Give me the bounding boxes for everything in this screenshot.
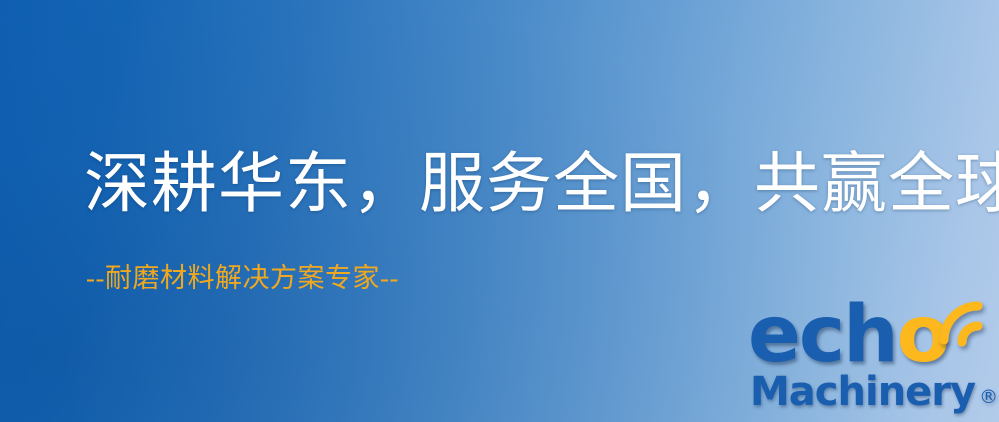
logo-wordmark: ech o [748,296,948,374]
banner-subtitle: --耐磨材料解决方案专家-- [86,265,399,292]
banner-headline: 深耕华东，服务全国，共赢全球 [84,152,999,218]
signal-arcs-icon [938,290,999,350]
logo-text-machinery: Machinery [750,372,975,412]
logo-text-ech: ech [748,296,897,374]
logo-subtext: Machinery ® [750,372,997,412]
registered-trademark-icon: ® [979,388,997,407]
promo-banner: 深耕华东，服务全国，共赢全球 --耐磨材料解决方案专家-- ech o Mach… [0,0,999,422]
company-logo[interactable]: ech o Machinery ® [748,296,996,420]
